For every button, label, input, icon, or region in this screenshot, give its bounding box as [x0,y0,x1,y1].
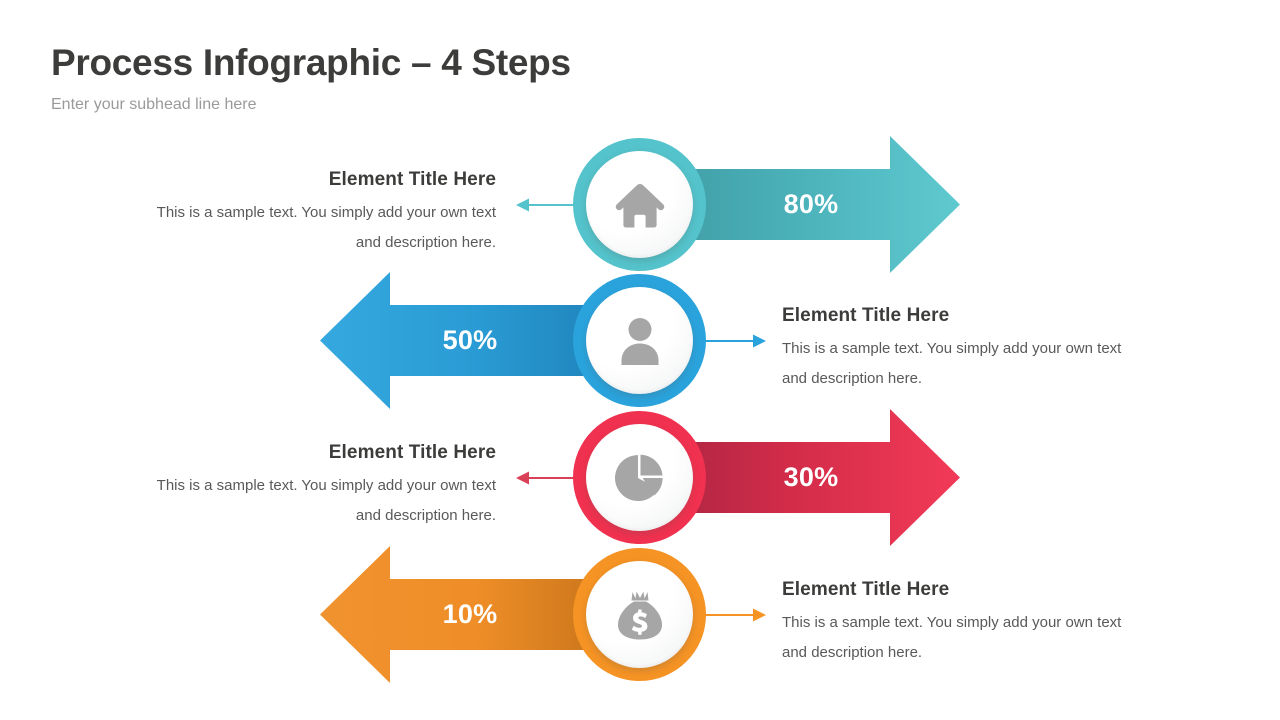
step-3-icon-disc [586,424,693,531]
step-3-description: This is a sample text. You simply add yo… [156,471,496,531]
step-1-title: Element Title Here [156,167,496,193]
step-2-icon-circle[interactable] [573,274,706,407]
step-4-icon-disc [586,561,693,668]
step-2-description: This is a sample text. You simply add yo… [782,334,1122,394]
person-icon [618,316,662,366]
step-3-title: Element Title Here [156,440,496,466]
step-2-percent: 50% [380,272,560,409]
step-3-text-block: Element Title Here This is a sample text… [156,440,496,531]
step-4-connector-arrow-right [700,601,766,629]
step-2-icon-disc [586,287,693,394]
step-4-text-block: Element Title Here This is a sample text… [782,577,1122,668]
step-row-4: 10% Element Title Here This is [0,546,1280,683]
step-2-text-block: Element Title Here This is a sample text… [782,303,1122,394]
page-title: Process Infographic – 4 Steps [51,40,571,86]
home-icon [614,181,666,229]
infographic-slide: Process Infographic – 4 Steps Enter your… [0,0,1280,720]
step-2-title: Element Title Here [782,303,1122,329]
step-1-text-block: Element Title Here This is a sample text… [156,167,496,258]
step-2-connector-arrow-right [700,327,766,355]
money-bag-icon [615,589,665,641]
step-4-title: Element Title Here [782,577,1122,603]
step-4-percent: 10% [380,546,560,683]
step-row-2: 50% Element Title Here This is a sample … [0,272,1280,409]
step-4-icon-circle[interactable] [573,548,706,681]
slide-header: Process Infographic – 4 Steps Enter your… [51,40,571,116]
step-row-1: Element Title Here This is a sample text… [0,136,1280,273]
step-1-description: This is a sample text. You simply add yo… [156,198,496,258]
step-1-percent: 80% [721,136,901,273]
step-3-icon-circle[interactable] [573,411,706,544]
page-subhead: Enter your subhead line here [51,94,571,116]
step-1-icon-circle[interactable] [573,138,706,271]
step-1-icon-disc [586,151,693,258]
step-4-description: This is a sample text. You simply add yo… [782,608,1122,668]
step-row-3: Element Title Here This is a sample text… [0,409,1280,546]
pie-chart-icon [614,452,666,504]
step-3-percent: 30% [721,409,901,546]
